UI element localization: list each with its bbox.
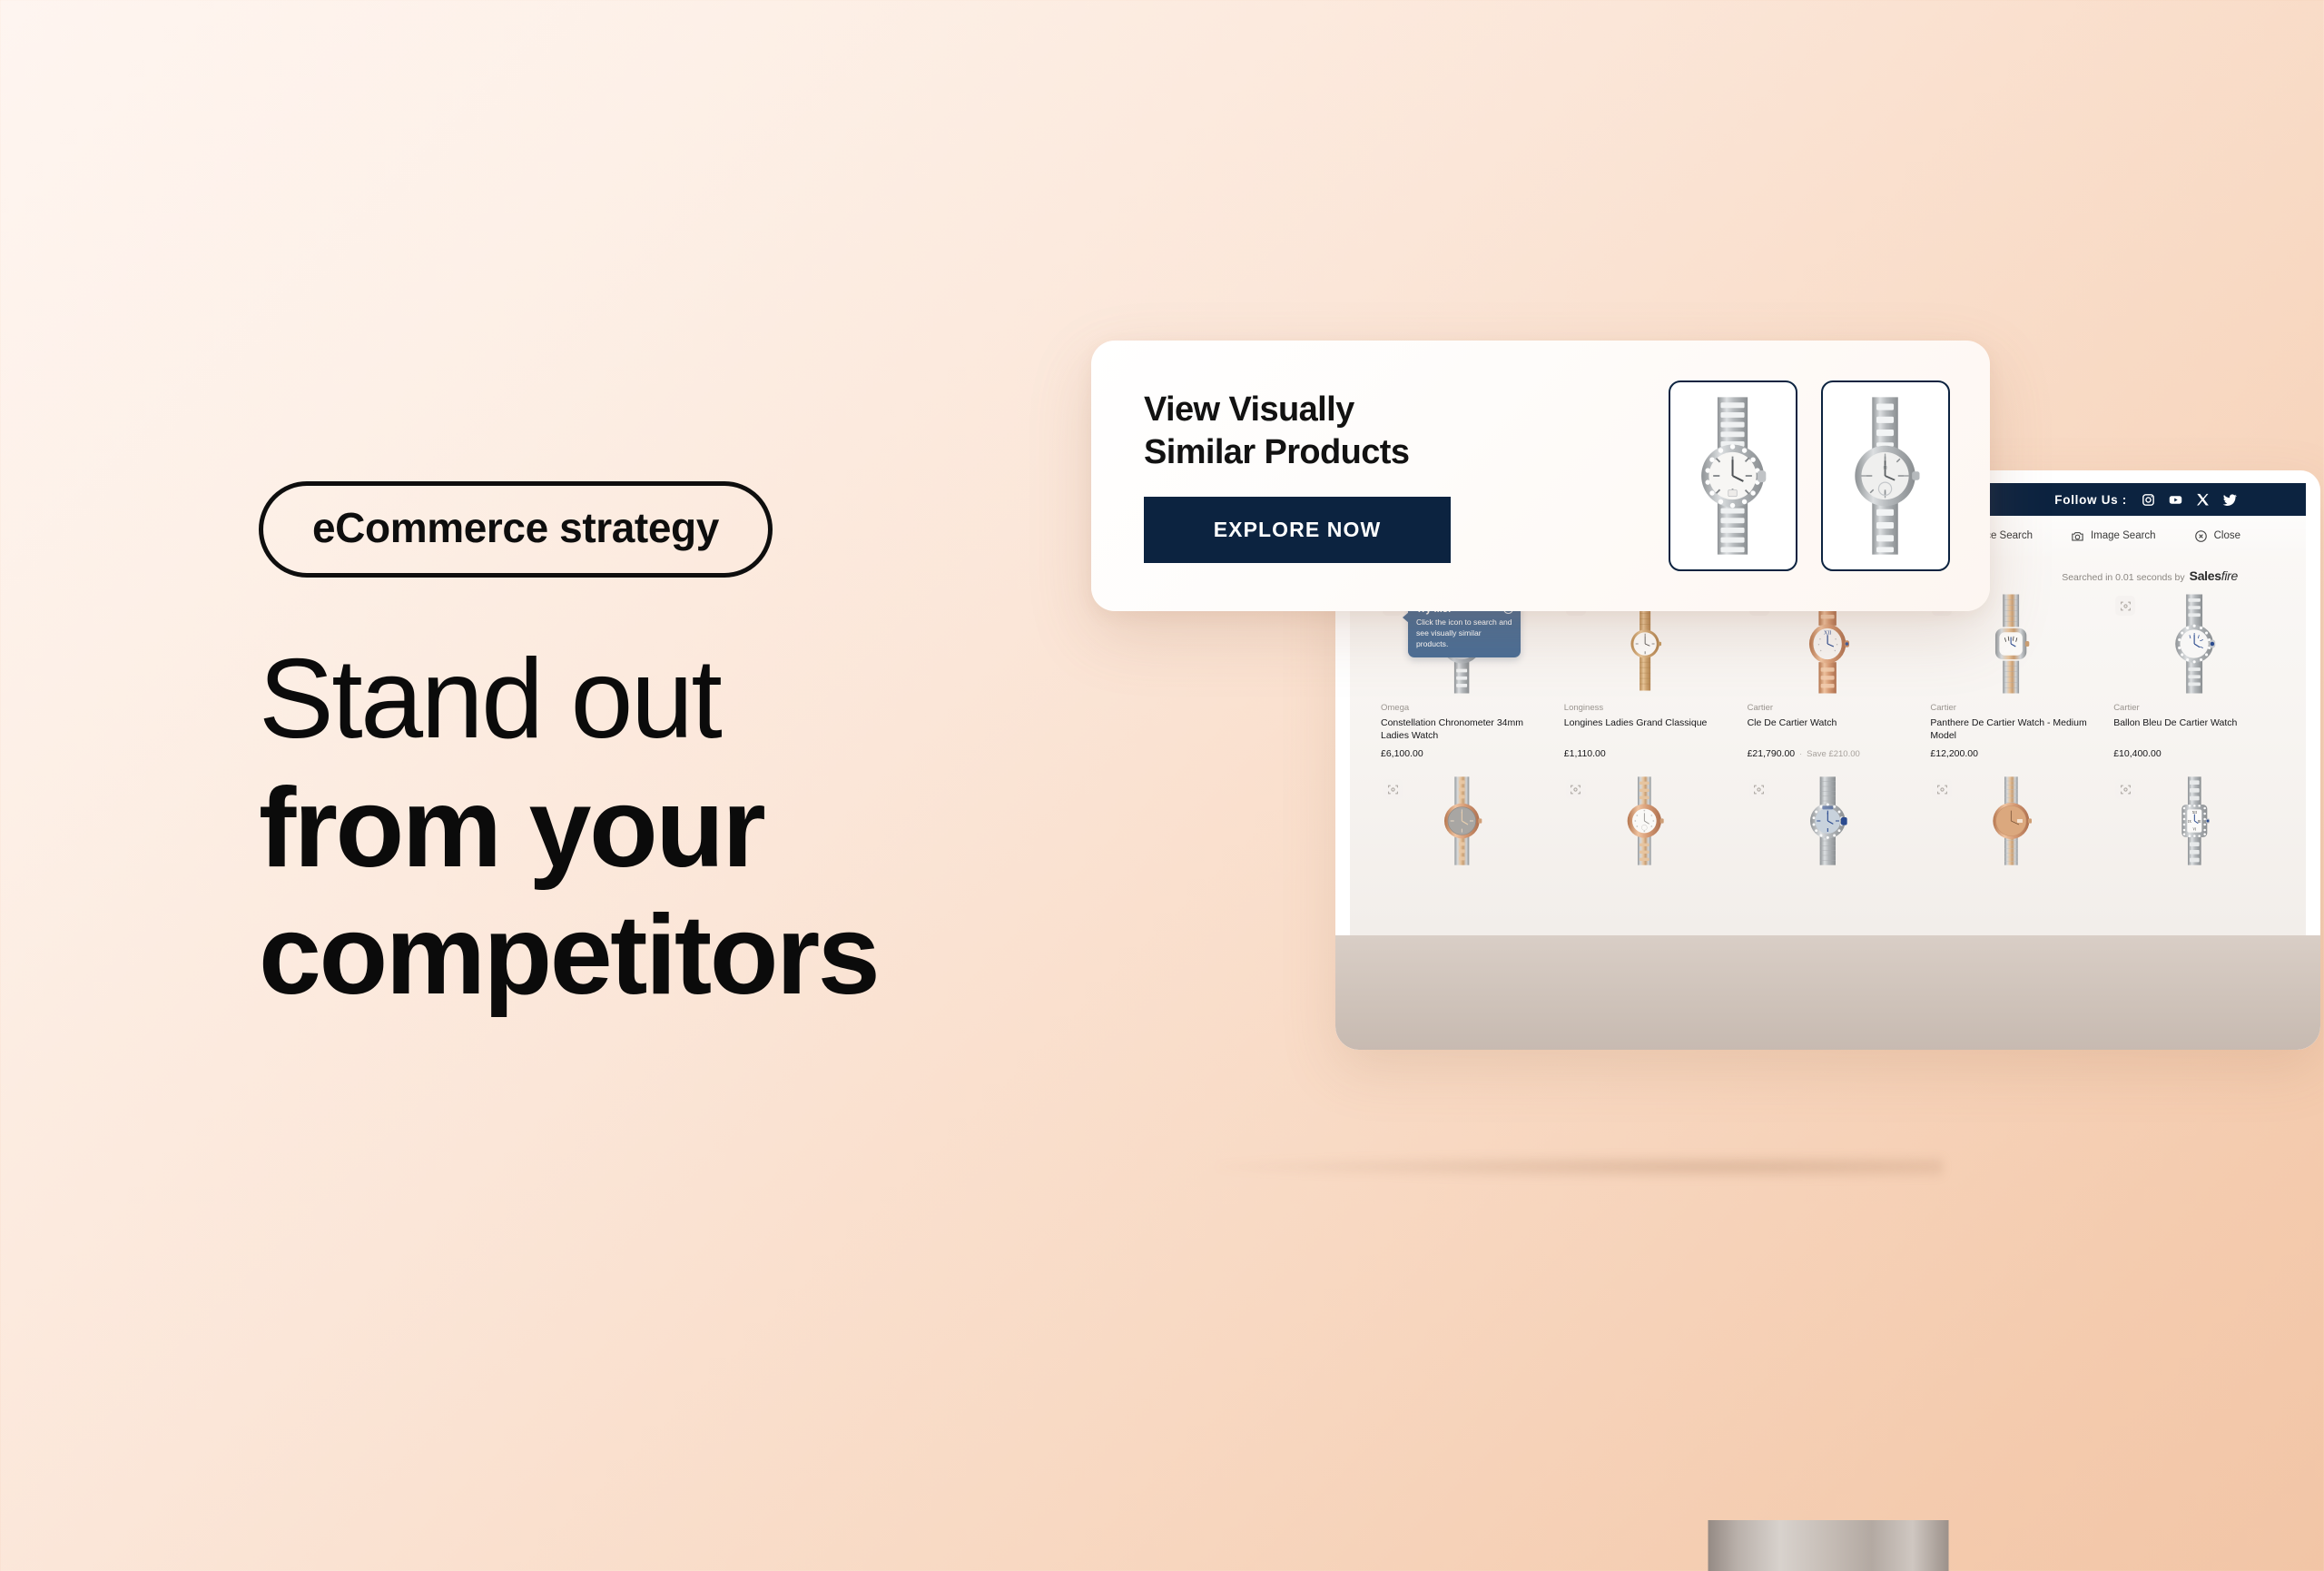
similar-product-thumbnail[interactable]: Ω [1821, 380, 1950, 571]
instagram-icon[interactable] [2141, 492, 2156, 508]
product-name: Longines Ladies Grand Classique [1564, 717, 1726, 743]
product-price-row: £6,100.00 [1381, 748, 1542, 759]
visual-search-icon[interactable] [1383, 779, 1403, 799]
promo-title-line-1: View Visually [1144, 389, 1641, 430]
product-tile[interactable]: XII Cartier Cle De Cartier Watch £2 [1740, 590, 1916, 759]
omega-constellation-gold-bezel-watch [1623, 776, 1666, 866]
product-brand: Cartier [1930, 703, 2092, 713]
product-tile[interactable]: Longiness Longines Ladies Grand Classiqu… [1557, 590, 1733, 759]
product-price-row: £12,200.00 [1930, 748, 2092, 759]
product-brand: Omega [1381, 703, 1542, 713]
product-price: £10,400.00 [2113, 748, 2162, 759]
product-tile[interactable] [1374, 774, 1550, 868]
ecommerce-strategy-badge: eCommerce strategy [259, 481, 773, 578]
product-tile[interactable] [1740, 774, 1916, 868]
visual-search-icon[interactable] [1566, 779, 1586, 799]
promo-title-line-2: Similar Products [1144, 431, 1641, 473]
salesfire-logo-bold: Sales [2190, 568, 2221, 583]
explore-now-button[interactable]: EXPLORE NOW [1144, 497, 1451, 563]
product-meta: Cartier Panthere De Cartier Watch - Medi… [1930, 697, 2092, 759]
product-image[interactable] [1564, 774, 1726, 868]
try-me-body: Click the icon to search and see visuall… [1416, 618, 1513, 650]
salesfire-logo: Salesfire [2190, 568, 2238, 583]
product-meta: Longiness Longines Ladies Grand Classiqu… [1564, 697, 1726, 759]
product-brand: Cartier [2113, 703, 2275, 713]
product-name: Panthere De Cartier Watch - Medium Model [1930, 717, 2092, 743]
product-image[interactable] [1930, 774, 2092, 868]
product-meta: Cartier Ballon Bleu De Cartier Watch £10… [2113, 697, 2275, 759]
breitling-chronomat-blue-diamond-watch [1807, 776, 1849, 866]
product-price: £21,790.00 [1748, 748, 1796, 759]
visual-search-icon[interactable] [2115, 779, 2135, 799]
omega-deville-copper-dial-watch [1990, 776, 2033, 866]
cartier-ballon-bleu-diamond-watch [2171, 593, 2218, 695]
svg-text:XII: XII [2192, 811, 2198, 815]
product-tile[interactable] [1923, 774, 2099, 868]
image-search-button[interactable]: Image Search [2071, 529, 2156, 543]
salesfire-logo-light: fire [2221, 568, 2238, 583]
product-name: Cle De Cartier Watch [1748, 717, 1909, 743]
cartier-panthere-two-tone-watch [1987, 593, 2034, 695]
visual-search-icon[interactable] [2115, 596, 2135, 616]
product-tile[interactable]: Cartier Panthere De Cartier Watch - Medi… [1923, 590, 2099, 759]
product-image[interactable]: XIIIXIIIVI [2113, 774, 2275, 868]
omega-constellation-watch: Ω [1847, 395, 1923, 557]
omega-aqua-terra-rose-gold-watch [1441, 776, 1483, 866]
youtube-icon[interactable] [2168, 492, 2183, 508]
promo-card-copy: View Visually Similar Products EXPLORE N… [1144, 389, 1641, 563]
product-brand: Longiness [1564, 703, 1726, 713]
product-save-label: Save £210.00 [1807, 749, 1860, 759]
follow-us-label: Follow Us : [2054, 493, 2127, 507]
product-tile[interactable]: XIIIXIIIVI [2106, 774, 2282, 868]
breitling-chronomat-watch [1695, 395, 1770, 557]
price-separator: · [1799, 749, 1802, 758]
monitor-stand-neck [1708, 1520, 1948, 1571]
product-tile[interactable]: Cartier Ballon Bleu De Cartier Watch £10… [2106, 590, 2282, 759]
product-image[interactable] [2113, 590, 2275, 697]
monitor-floor-shadow [1216, 1155, 1943, 1179]
product-meta: Cartier Cle De Cartier Watch £21,790.00 … [1748, 697, 1909, 759]
product-price-row: £1,110.00 [1564, 748, 1726, 759]
close-circle-icon [2194, 529, 2208, 543]
visual-search-icon[interactable] [1932, 779, 1952, 799]
close-search-button[interactable]: Close [2194, 529, 2240, 543]
svg-text:Ω: Ω [1884, 466, 1888, 471]
twitter-icon[interactable] [2222, 492, 2238, 508]
product-price-row: £21,790.00 · Save £210.00 [1748, 748, 1909, 759]
visual-search-promo-card: View Visually Similar Products EXPLORE N… [1091, 341, 1990, 611]
product-image[interactable] [1748, 774, 1909, 868]
product-price-row: £10,400.00 [2113, 748, 2275, 759]
product-meta: Omega Constellation Chronometer 34mm Lad… [1381, 697, 1542, 759]
visual-search-icon[interactable] [1749, 779, 1769, 799]
monitor-chin [1335, 935, 2320, 1050]
image-search-label: Image Search [2091, 530, 2156, 541]
product-price: £12,200.00 [1930, 748, 1978, 759]
headline-line-2: from your [259, 772, 1121, 899]
hero-section: eCommerce strategy Stand out from your c… [259, 481, 1121, 1026]
product-name: Constellation Chronometer 34mm Ladies Wa… [1381, 717, 1542, 743]
promo-card-title: View Visually Similar Products [1144, 389, 1641, 473]
product-tile[interactable]: Try Me! ✕ Click the icon to search and s… [1374, 590, 1550, 759]
headline-line-1: Stand out [259, 643, 1121, 772]
page-title: Stand out from your competitors [259, 643, 1121, 1026]
x-icon[interactable] [2195, 492, 2211, 508]
similar-product-thumbnail[interactable] [1669, 380, 1797, 571]
product-grid-row-2: XIIIXIIIVI [1350, 759, 2306, 868]
promo-card-thumbnails: Ω [1669, 380, 1950, 571]
product-price: £6,100.00 [1381, 748, 1423, 759]
svg-text:IX: IX [2188, 820, 2191, 824]
product-tile[interactable] [1557, 774, 1733, 868]
search-status-text: Searched in 0.01 seconds by [2062, 572, 2184, 583]
headline-line-3: competitors [259, 899, 1121, 1026]
close-label: Close [2214, 530, 2240, 541]
cartier-tank-francaise-diamond-watch: XIIIXIIIVI [2173, 776, 2216, 866]
product-price: £1,110.00 [1564, 748, 1606, 759]
product-image[interactable] [1381, 774, 1542, 868]
product-name: Ballon Bleu De Cartier Watch [2113, 717, 2275, 743]
camera-icon [2071, 529, 2084, 543]
product-brand: Cartier [1748, 703, 1909, 713]
